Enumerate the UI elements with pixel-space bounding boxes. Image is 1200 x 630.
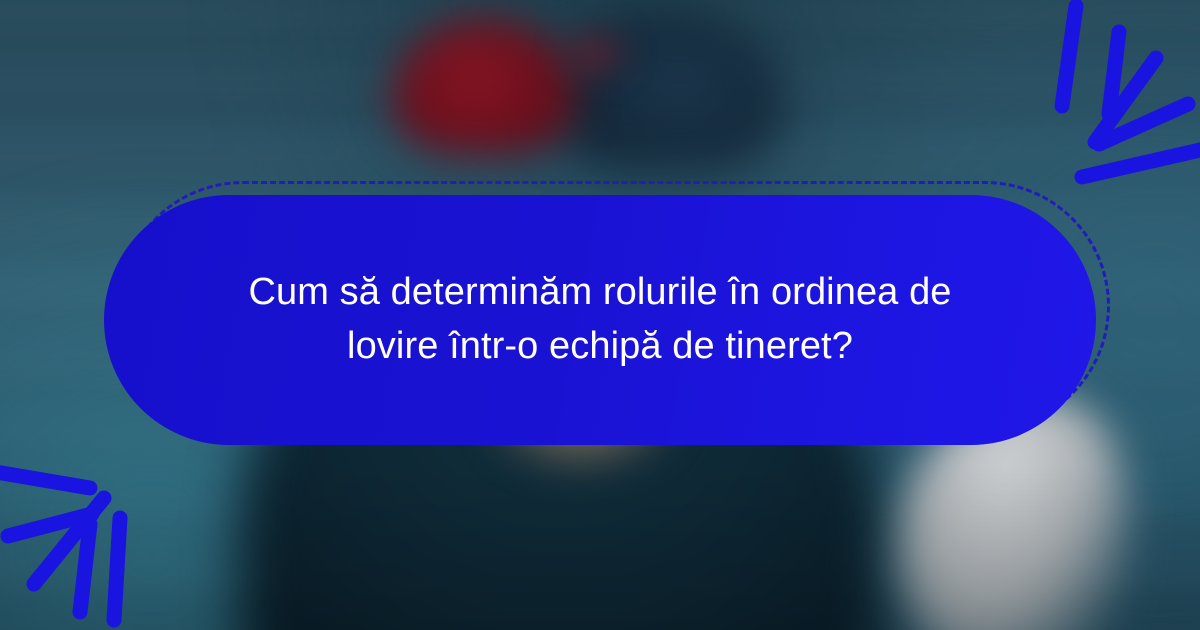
headline-card: Cum să determinăm rolurile în ordinea de… [104, 195, 1096, 445]
burst-top-right [956, 0, 1200, 194]
burst-stroke [80, 524, 90, 612]
burst-stroke [0, 472, 90, 488]
headline-card-wrapper: Cum să determinăm rolurile în ordinea de… [104, 195, 1096, 445]
burst-stroke [1062, 6, 1076, 106]
headline-text: Cum să determinăm rolurile în ordinea de… [230, 266, 970, 374]
social-card-canvas: Cum să determinăm rolurile în ordinea de… [0, 0, 1200, 630]
burst-stroke [1082, 150, 1200, 177]
burst-bottom-left [0, 436, 194, 630]
burst-stroke [114, 518, 120, 620]
